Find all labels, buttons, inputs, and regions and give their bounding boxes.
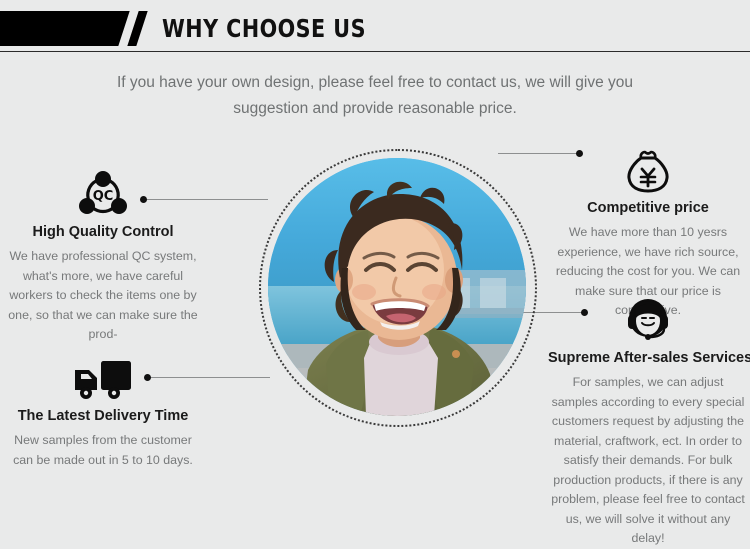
money-bag-icon [623, 146, 673, 194]
slanted-black-bar-icon [0, 11, 130, 46]
header-divider [0, 51, 750, 52]
feature-title-delivery: The Latest Delivery Time [0, 408, 208, 424]
page-header: WHY CHOOSE US [0, 0, 750, 52]
feature-competitive-price: Competitive price We have more than 10 y… [548, 146, 748, 321]
delivery-truck-icon [73, 354, 133, 402]
feature-title-service: Supreme After-sales Services [548, 350, 748, 366]
feature-title-price: Competitive price [548, 200, 748, 216]
feature-body-quality: We have professional QC system, what's m… [0, 247, 208, 345]
photo-dotted-ring [259, 149, 537, 427]
center-photo [268, 158, 526, 416]
feature-after-sales-services: Supreme After-sales Services For samples… [548, 296, 748, 549]
feature-title-quality: High Quality Control [0, 224, 208, 240]
slash-mark-icon [127, 11, 147, 46]
qc-circle-icon: QC [77, 170, 129, 218]
subtitle-text: If you have your own design, please feel… [95, 70, 655, 122]
headset-support-icon [622, 296, 674, 344]
page-title: WHY CHOOSE US [162, 12, 366, 45]
feature-high-quality-control: QC High Quality Control We have professi… [0, 170, 208, 345]
feature-latest-delivery-time: The Latest Delivery Time New samples fro… [0, 354, 208, 470]
svg-text:QC: QC [93, 189, 114, 204]
feature-body-service: For samples, we can adjust samples accor… [548, 373, 748, 549]
feature-body-delivery: New samples from the customer can be mad… [0, 431, 208, 470]
